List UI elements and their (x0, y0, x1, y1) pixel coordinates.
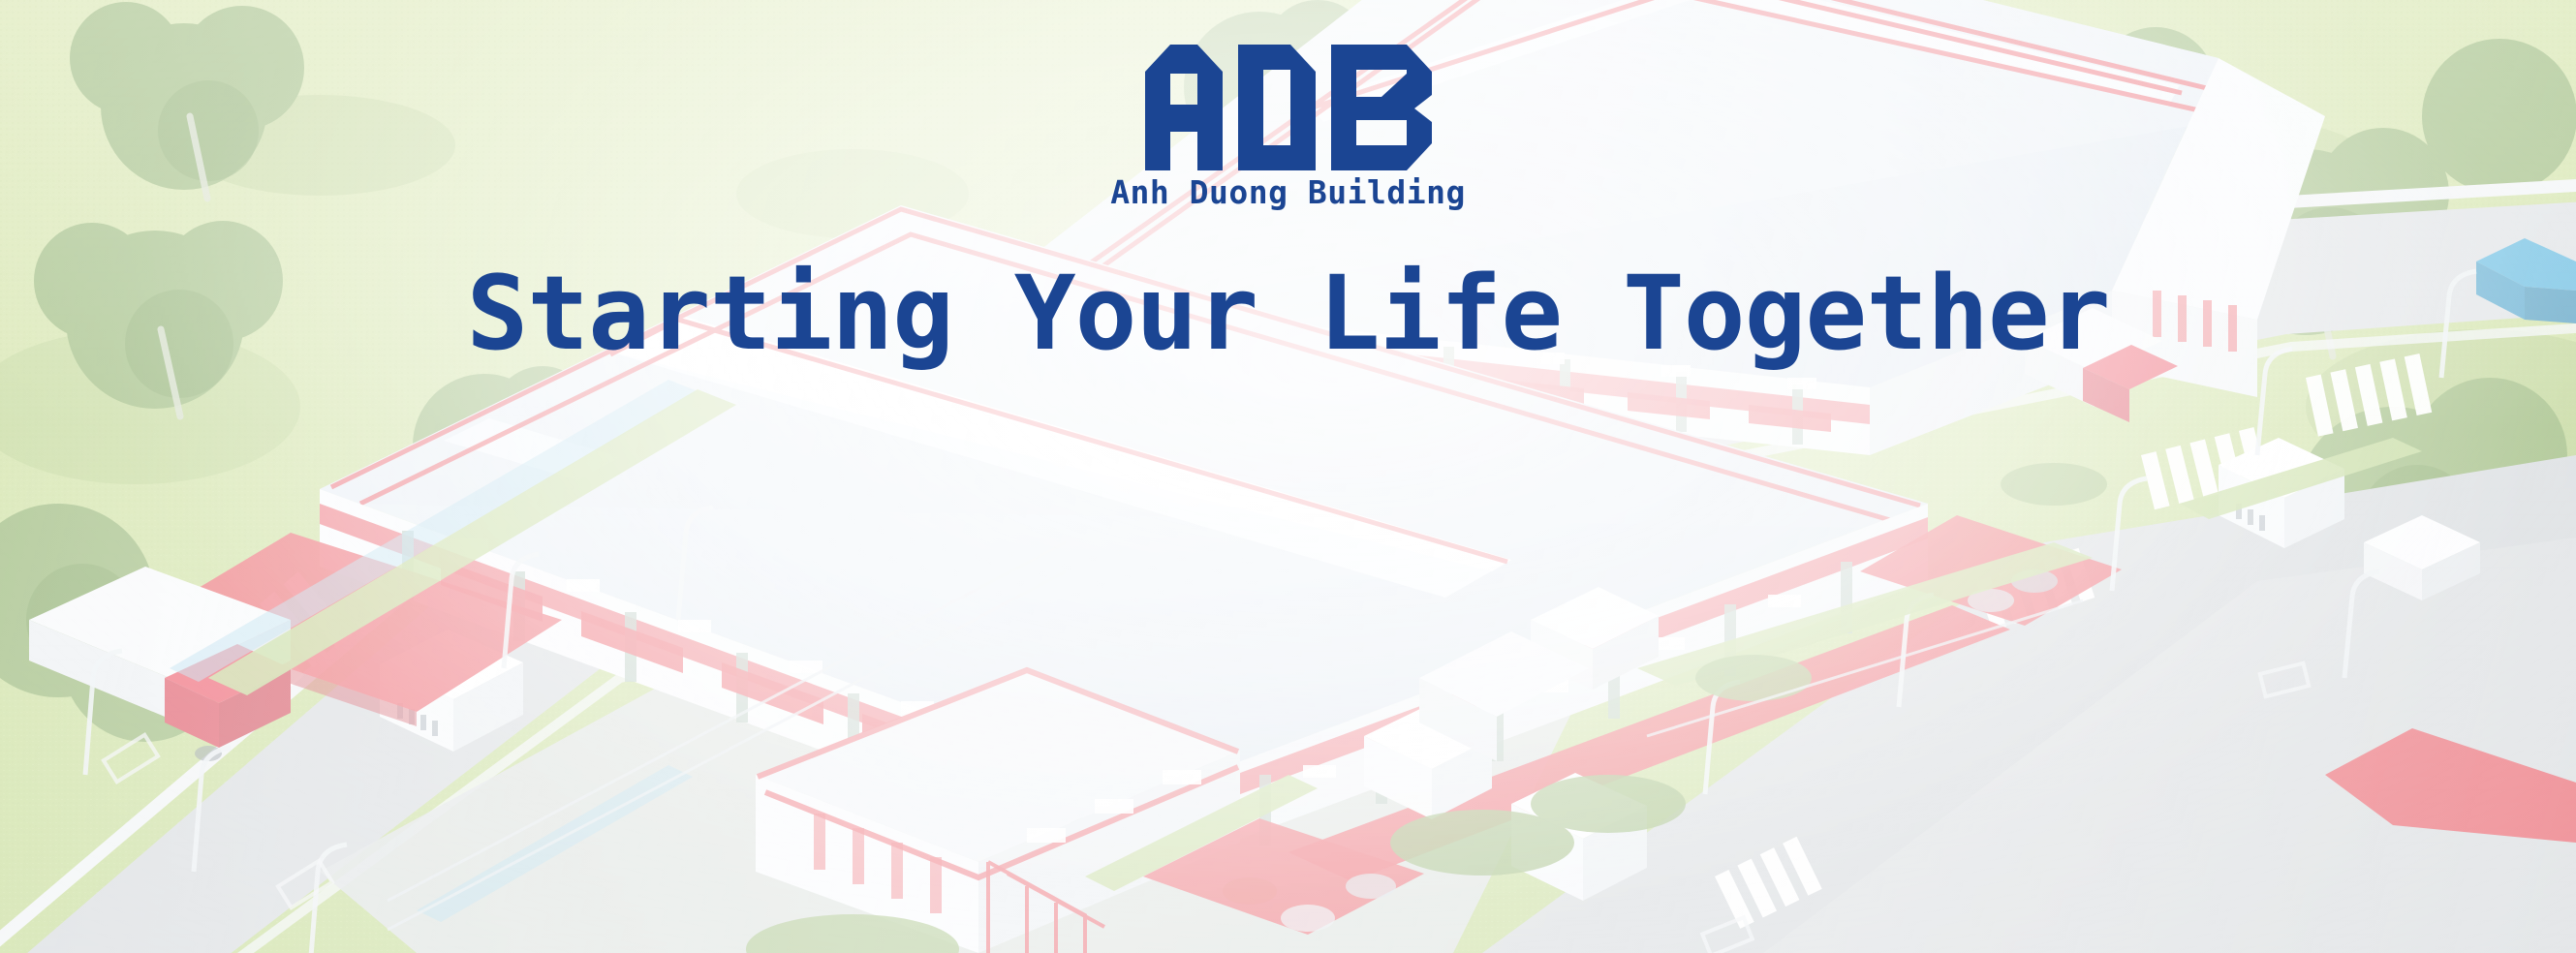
brand-name: Anh Duong Building (1110, 176, 1466, 208)
hero-banner: Anh Duong Building Starting Your Life To… (0, 0, 2576, 953)
hero-headline: Starting Your Life Together (466, 262, 2109, 365)
brand-lockup[interactable]: Anh Duong Building (1110, 45, 1466, 208)
adb-logo-icon[interactable] (1124, 45, 1453, 170)
